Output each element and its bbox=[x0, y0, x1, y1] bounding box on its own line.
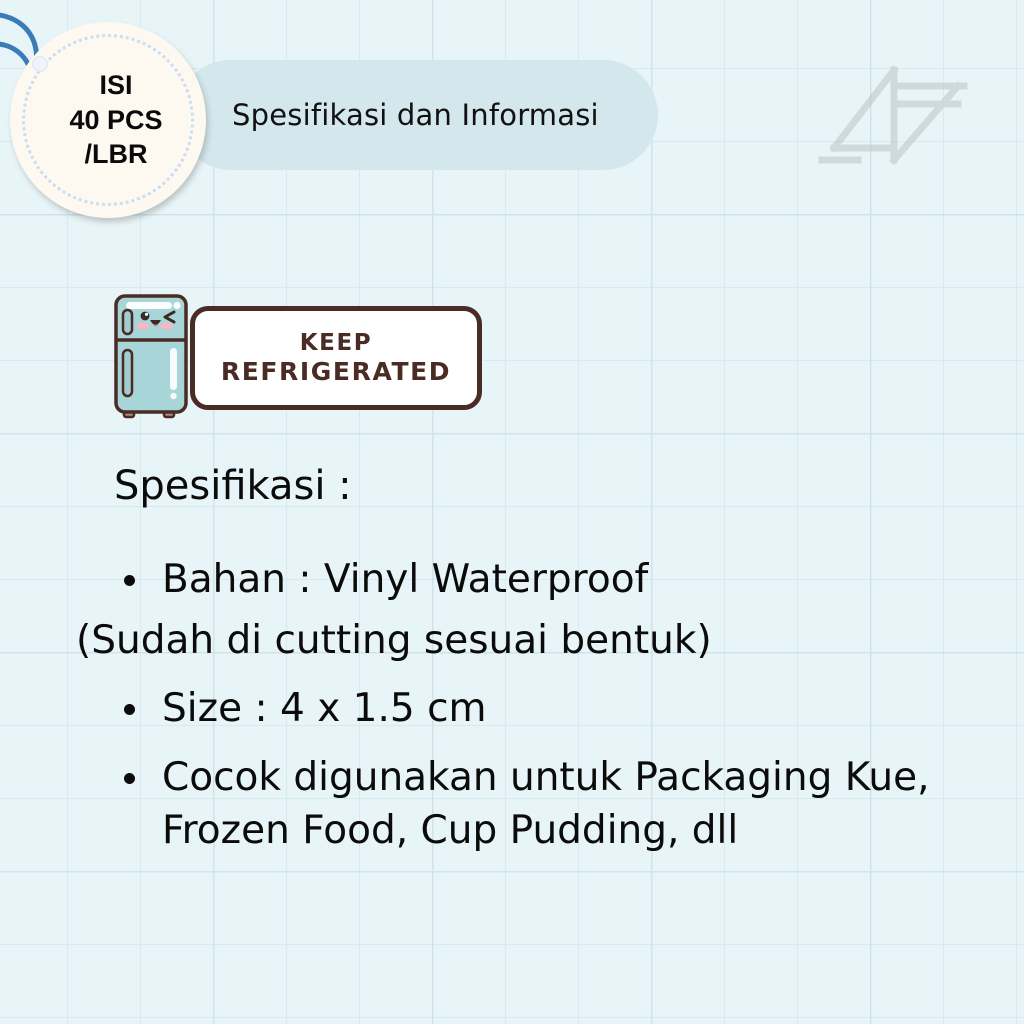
tag-line-unit: /LBR bbox=[85, 137, 148, 172]
brand-logo-icon bbox=[818, 62, 970, 167]
list-item-label: Size : 4 x 1.5 cm bbox=[162, 686, 487, 731]
sticker-label-line-1: KEEP bbox=[300, 329, 373, 357]
sticker-label-box: KEEP REFRIGERATED bbox=[190, 306, 482, 410]
spec-note: (Sudah di cutting sesuai bentuk) bbox=[76, 615, 956, 668]
spec-list: Bahan : Vinyl Waterproof (Sudah di cutti… bbox=[76, 554, 956, 857]
bullet-icon bbox=[124, 575, 135, 586]
tag-line-count: 40 PCS bbox=[69, 103, 162, 138]
list-item: Bahan : Vinyl Waterproof bbox=[76, 554, 956, 607]
tag-line-isi: ISI bbox=[99, 68, 132, 103]
tag-face: ISI 40 PCS /LBR bbox=[10, 22, 206, 218]
spec-heading: Spesifikasi : bbox=[114, 466, 956, 506]
bullet-icon bbox=[124, 704, 135, 715]
page-title: Spesifikasi dan Informasi bbox=[232, 98, 599, 132]
quantity-hang-tag: ISI 40 PCS /LBR bbox=[0, 8, 224, 218]
list-item-label: Cocok digunakan untuk Packaging Kue, Fro… bbox=[162, 755, 930, 853]
specification-block: Spesifikasi : Bahan : Vinyl Waterproof (… bbox=[76, 466, 956, 873]
bullet-icon bbox=[124, 773, 135, 784]
poster-canvas: Spesifikasi dan Informasi ISI 40 PCS /LB… bbox=[0, 0, 1024, 1024]
list-item: Cocok digunakan untuk Packaging Kue, Fro… bbox=[76, 752, 956, 857]
refrigerator-kawaii-icon bbox=[112, 292, 192, 424]
list-item: Size : 4 x 1.5 cm bbox=[76, 683, 956, 736]
sticker-label-line-2: REFRIGERATED bbox=[221, 357, 451, 388]
list-item-label: Bahan : Vinyl Waterproof bbox=[162, 557, 648, 602]
tag-text-group: ISI 40 PCS /LBR bbox=[10, 22, 206, 218]
header-pill: Spesifikasi dan Informasi bbox=[176, 60, 658, 170]
keep-refrigerated-sticker: KEEP REFRIGERATED bbox=[112, 292, 484, 424]
